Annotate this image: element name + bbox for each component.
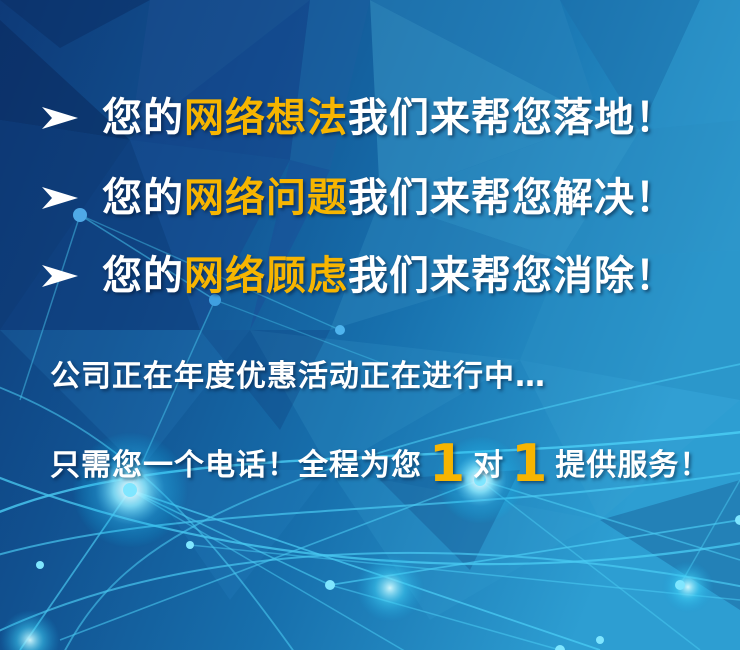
subline-2-part-3: 提供服务！ [555, 451, 710, 481]
arrow-right-icon [40, 261, 80, 291]
headline-2: 您的网络问题我们来帮您解决！ [102, 178, 676, 218]
headline-3-prefix: 您的 [102, 253, 184, 299]
headline-3-highlight: 网络顾虑 [184, 253, 348, 299]
banner-content: 您的网络想法我们来帮您落地！ 您的网络问题我们来帮您解决！ 您的网络顾虑我们来帮… [0, 0, 740, 650]
subline-2-number-2: 1 [504, 438, 555, 490]
promo-subline-1: 公司正在年度优惠活动正在进行中… [50, 362, 546, 392]
headline-1: 您的网络想法我们来帮您落地！ [102, 98, 676, 138]
headline-2-suffix: 我们来帮您解决！ [348, 175, 676, 221]
bullet-row-2: 您的网络问题我们来帮您解决！ [40, 178, 676, 218]
promo-banner: 您的网络想法我们来帮您落地！ 您的网络问题我们来帮您解决！ 您的网络顾虑我们来帮… [0, 0, 740, 650]
headline-3-suffix: 我们来帮您消除！ [348, 253, 676, 299]
headline-1-prefix: 您的 [102, 95, 184, 141]
arrow-right-icon [40, 103, 80, 133]
subline-2-part-1: 只需您一个电话！全程为您 [50, 451, 422, 481]
arrow-right-icon [40, 183, 80, 213]
headline-1-suffix: 我们来帮您落地！ [348, 95, 676, 141]
headline-2-prefix: 您的 [102, 175, 184, 221]
subline-2-number-1: 1 [422, 438, 473, 490]
headline-1-highlight: 网络想法 [184, 95, 348, 141]
headline-3: 您的网络顾虑我们来帮您消除！ [102, 256, 676, 296]
bullet-row-1: 您的网络想法我们来帮您落地！ [40, 98, 676, 138]
bullet-row-3: 您的网络顾虑我们来帮您消除！ [40, 256, 676, 296]
subline-2-part-2: 对 [473, 451, 504, 481]
promo-subline-2: 只需您一个电话！全程为您 1 对 1 提供服务！ [50, 432, 710, 484]
headline-2-highlight: 网络问题 [184, 175, 348, 221]
